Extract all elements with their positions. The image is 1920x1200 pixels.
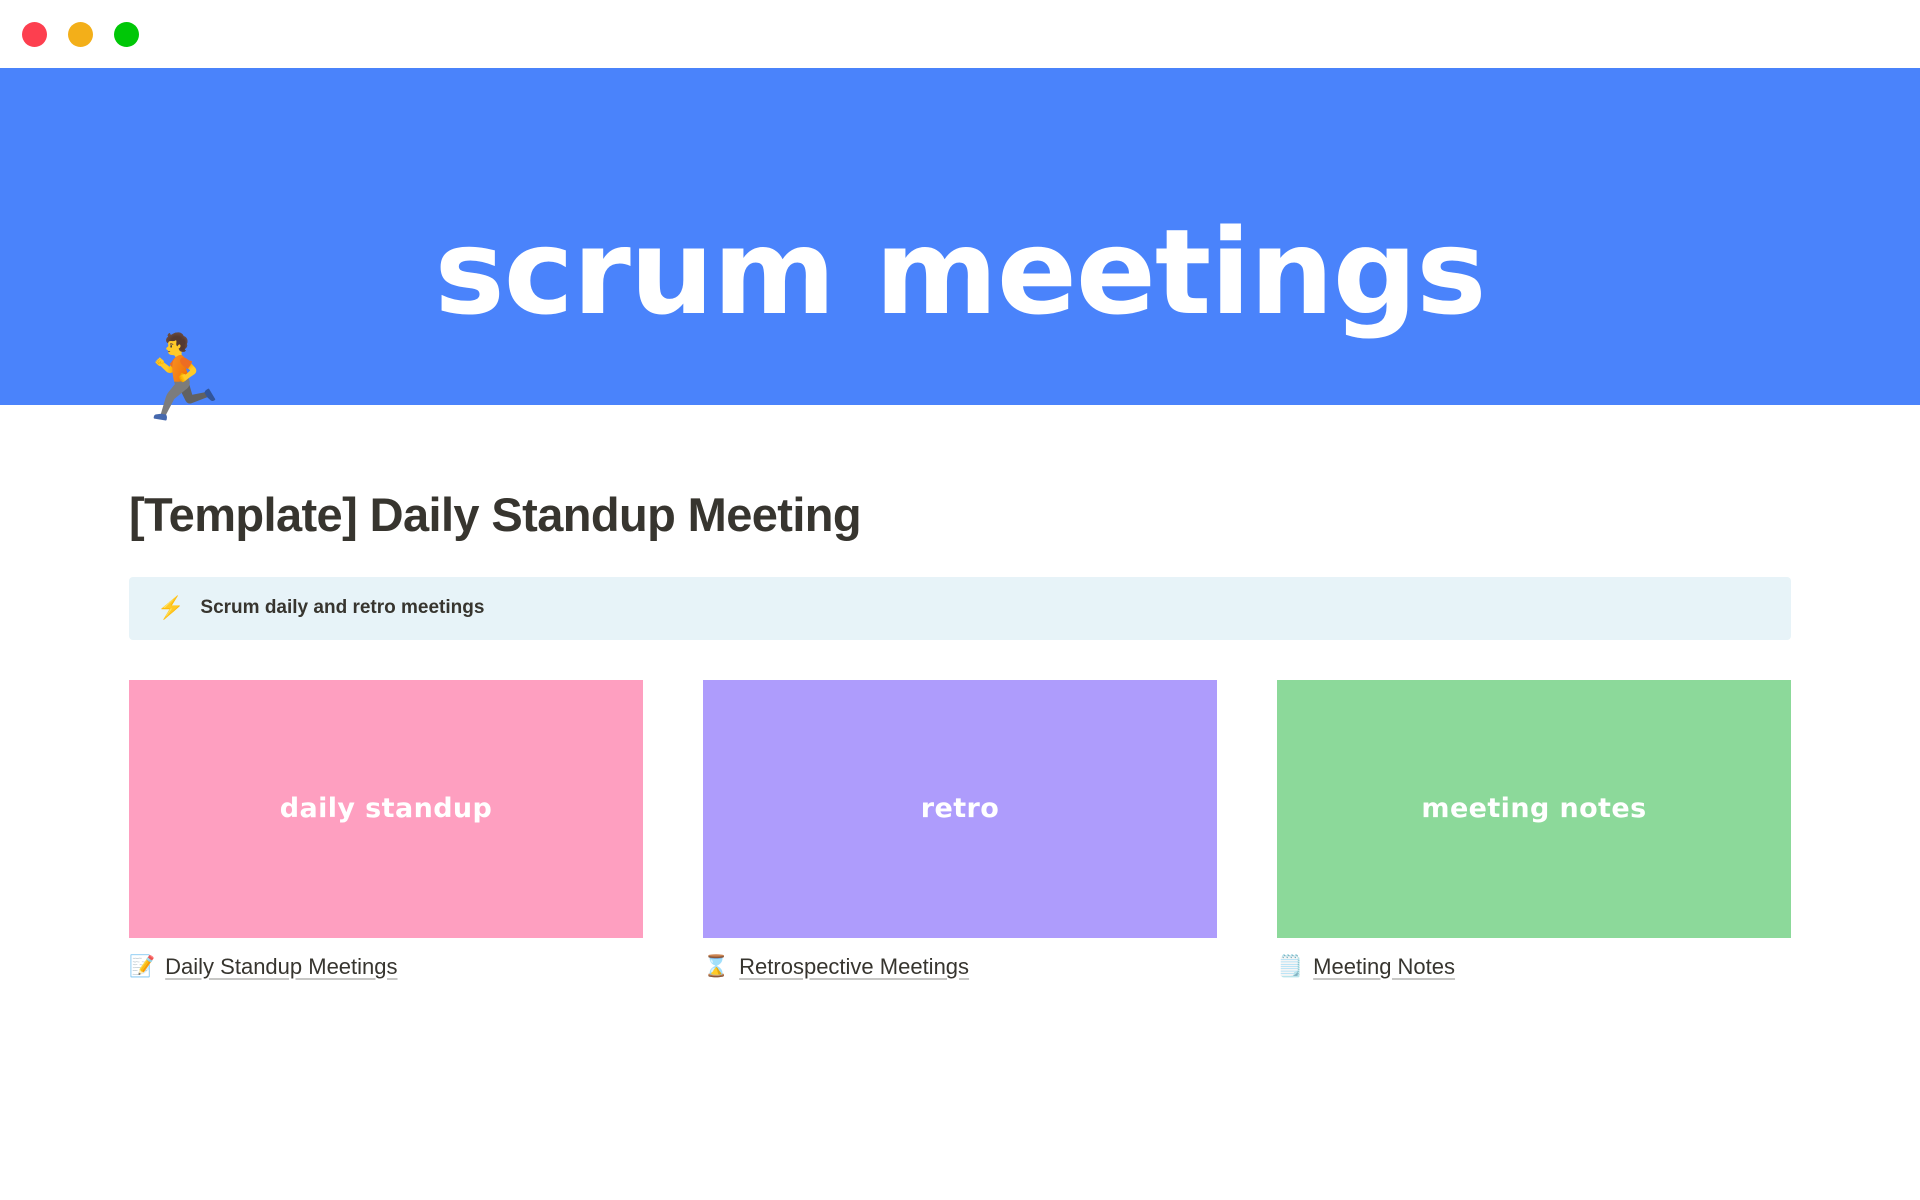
- spiral-notepad-icon: 🗒️: [1277, 956, 1303, 977]
- page-content: [Template] Daily Standup Meeting ⚡ Scrum…: [0, 405, 1920, 980]
- card-caption-meeting-notes: 🗒️ Meeting Notes: [1277, 954, 1791, 980]
- card-retro: retro ⌛ Retrospective Meetings: [703, 680, 1217, 980]
- running-person-emoji-icon[interactable]: 🏃: [129, 338, 231, 420]
- minimize-window-button[interactable]: [68, 22, 93, 47]
- window-title-bar: [0, 0, 1920, 68]
- card-daily-standup: daily standup 📝 Daily Standup Meetings: [129, 680, 643, 980]
- memo-icon: 📝: [129, 956, 155, 977]
- card-link-daily-standup[interactable]: Daily Standup Meetings: [165, 954, 397, 980]
- close-window-button[interactable]: [22, 22, 47, 47]
- card-image-retro[interactable]: retro: [703, 680, 1217, 938]
- card-image-meeting-notes[interactable]: meeting notes: [1277, 680, 1791, 938]
- card-image-label: retro: [921, 793, 999, 824]
- maximize-window-button[interactable]: [114, 22, 139, 47]
- card-link-meeting-notes[interactable]: Meeting Notes: [1313, 954, 1455, 980]
- callout-text: Scrum daily and retro meetings: [200, 597, 484, 619]
- card-caption-retro: ⌛ Retrospective Meetings: [703, 954, 1217, 980]
- card-image-daily-standup[interactable]: daily standup: [129, 680, 643, 938]
- card-meeting-notes: meeting notes 🗒️ Meeting Notes: [1277, 680, 1791, 980]
- traffic-light-controls: [22, 22, 139, 47]
- hourglass-done-icon: ⌛: [703, 956, 729, 977]
- page-title[interactable]: [Template] Daily Standup Meeting: [129, 489, 1791, 541]
- cover-title: scrum meetings: [0, 213, 1920, 331]
- card-caption-daily-standup: 📝 Daily Standup Meetings: [129, 954, 643, 980]
- callout-block[interactable]: ⚡ Scrum daily and retro meetings: [129, 577, 1791, 640]
- card-image-label: daily standup: [280, 793, 493, 824]
- page-cover-banner[interactable]: scrum meetings: [0, 68, 1920, 405]
- lightning-bolt-icon: ⚡: [157, 597, 184, 619]
- cards-row: daily standup 📝 Daily Standup Meetings r…: [129, 680, 1791, 980]
- card-image-label: meeting notes: [1421, 793, 1646, 824]
- card-link-retrospective-meetings[interactable]: Retrospective Meetings: [739, 954, 969, 980]
